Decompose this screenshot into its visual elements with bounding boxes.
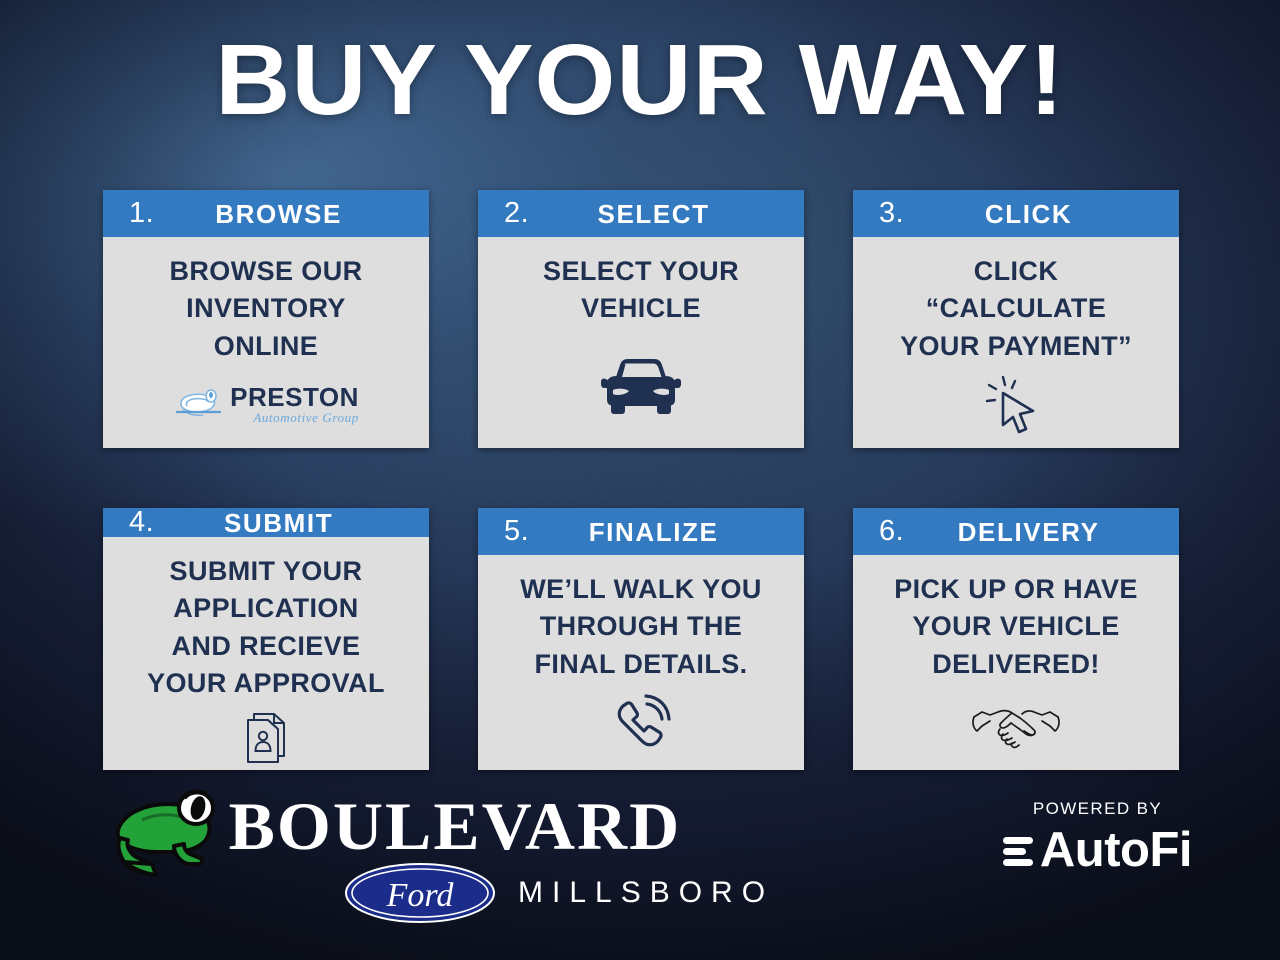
autofi-logo: POWERED BY AutoFi bbox=[1003, 800, 1192, 875]
preston-wordmark: PRESTON bbox=[230, 384, 359, 410]
step-label: SUBMIT bbox=[154, 510, 417, 536]
phone-ringing-icon bbox=[606, 690, 676, 758]
step-label: DELIVERY bbox=[904, 519, 1167, 545]
step-description: PICK UP OR HAVE YOUR VEHICLE DELIVERED! bbox=[894, 571, 1138, 683]
step-header: 4. SUBMIT bbox=[103, 508, 429, 537]
step-header: 5. FINALIZE bbox=[478, 508, 804, 555]
step-icon-area bbox=[865, 683, 1167, 762]
step-header: 2. SELECT bbox=[478, 190, 804, 237]
step-label: CLICK bbox=[904, 201, 1167, 227]
step-number: 5. bbox=[504, 517, 529, 546]
step-card-submit[interactable]: 4. SUBMIT SUBMIT YOUR APPLICATION AND RE… bbox=[103, 508, 429, 770]
car-front-icon bbox=[593, 350, 689, 422]
poster: BUY YOUR WAY! 1. BROWSE BROWSE OUR INVEN… bbox=[0, 0, 1280, 960]
step-header: 3. CLICK bbox=[853, 190, 1179, 237]
step-body: WE’LL WALK YOU THROUGH THE FINAL DETAILS… bbox=[478, 555, 804, 770]
autofi-mark: AutoFi bbox=[1003, 826, 1192, 875]
ford-wordmark: Ford bbox=[386, 877, 455, 914]
dealer-name: BOULEVARD bbox=[229, 792, 780, 860]
step-body: SUBMIT YOUR APPLICATION AND RECIEVE YOUR… bbox=[103, 537, 429, 776]
autofi-bars-icon bbox=[1003, 831, 1033, 871]
step-header: 6. DELIVERY bbox=[853, 508, 1179, 555]
preston-tagline: Automotive Group bbox=[230, 411, 359, 424]
step-label: BROWSE bbox=[154, 201, 417, 227]
step-icon-area bbox=[865, 365, 1167, 440]
step-body: PICK UP OR HAVE YOUR VEHICLE DELIVERED! bbox=[853, 555, 1179, 770]
step-description: WE’LL WALK YOU THROUGH THE FINAL DETAILS… bbox=[520, 571, 762, 683]
step-description: SUBMIT YOUR APPLICATION AND RECIEVE YOUR… bbox=[147, 553, 385, 702]
step-description: BROWSE OUR INVENTORY ONLINE bbox=[170, 253, 363, 365]
step-number: 3. bbox=[879, 199, 904, 228]
autofi-wordmark: AutoFi bbox=[1040, 826, 1192, 875]
handshake-icon bbox=[968, 695, 1064, 753]
step-description: SELECT YOUR VEHICLE bbox=[543, 253, 739, 328]
cursor-arrow bbox=[1003, 393, 1033, 432]
dealer-subrow: Ford MILLSBORO bbox=[234, 862, 774, 924]
preston-automotive-group-logo: PRESTON Automotive Group bbox=[173, 384, 359, 424]
step-icon-area bbox=[490, 683, 792, 762]
ford-logo: Ford bbox=[344, 862, 496, 924]
step-card-finalize[interactable]: 5. FINALIZE WE’LL WALK YOU THROUGH THE F… bbox=[478, 508, 804, 770]
step-body: CLICK “CALCULATE YOUR PAYMENT” bbox=[853, 237, 1179, 448]
footer: BOULEVARD Ford MILLSBORO POWERED BY bbox=[0, 774, 1280, 960]
step-number: 1. bbox=[129, 199, 154, 228]
dealer-wordmark-block: BOULEVARD Ford MILLSBORO bbox=[234, 788, 774, 924]
step-card-delivery[interactable]: 6. DELIVERY PICK UP OR HAVE YOUR VEHICLE… bbox=[853, 508, 1179, 770]
step-card-browse[interactable]: 1. BROWSE BROWSE OUR INVENTORY ONLINE bbox=[103, 190, 429, 448]
step-number: 4. bbox=[129, 508, 154, 537]
step-card-select[interactable]: 2. SELECT SELECT YOUR VEHICLE bbox=[478, 190, 804, 448]
powered-by-label: POWERED BY bbox=[1033, 800, 1162, 817]
step-icon-area bbox=[490, 328, 792, 441]
step-icon-area bbox=[115, 702, 417, 768]
step-number: 6. bbox=[879, 517, 904, 546]
dealer-location: MILLSBORO bbox=[518, 878, 774, 908]
step-icon-area: PRESTON Automotive Group bbox=[115, 365, 417, 440]
step-body: BROWSE OUR INVENTORY ONLINE bbox=[103, 237, 429, 448]
step-body: SELECT YOUR VEHICLE bbox=[478, 237, 804, 448]
step-header: 1. BROWSE bbox=[103, 190, 429, 237]
page-title: BUY YOUR WAY! bbox=[0, 28, 1280, 133]
preston-frog-icon bbox=[173, 384, 227, 424]
step-label: FINALIZE bbox=[529, 519, 792, 545]
dealer-brand: BOULEVARD Ford MILLSBORO bbox=[112, 788, 774, 924]
application-document-icon bbox=[234, 706, 298, 768]
step-card-click[interactable]: 3. CLICK CLICK “CALCULATE YOUR PAYMENT” bbox=[853, 190, 1179, 448]
step-number: 2. bbox=[504, 199, 529, 228]
steps-grid: 1. BROWSE BROWSE OUR INVENTORY ONLINE bbox=[103, 190, 1179, 770]
step-label: SELECT bbox=[529, 201, 792, 227]
frog-mascot-icon bbox=[112, 788, 220, 883]
cursor-click-icon bbox=[981, 371, 1051, 437]
step-description: CLICK “CALCULATE YOUR PAYMENT” bbox=[900, 253, 1132, 365]
